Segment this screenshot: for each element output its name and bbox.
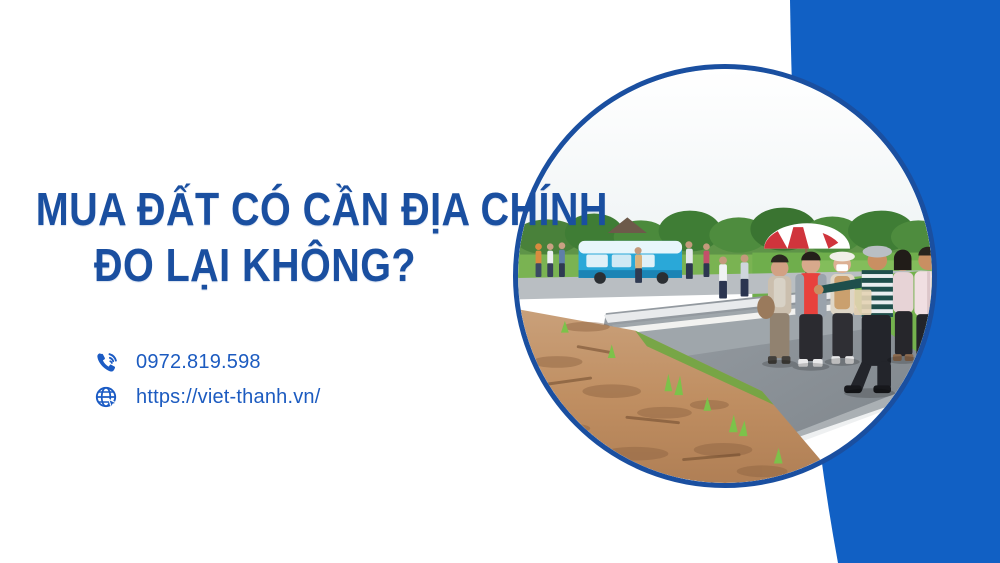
phone-call-icon: [92, 348, 122, 378]
photo-image: [518, 69, 932, 483]
globe-cursor-icon: [92, 383, 122, 413]
contact-block: 0972.819.598 https://viet-thanh.vn/: [92, 345, 422, 415]
contact-row-phone[interactable]: 0972.819.598: [92, 345, 422, 380]
banner-canvas: MUA ĐẤT CÓ CẦN ĐỊA CHÍNH ĐO LẠI KHÔNG? 0…: [0, 0, 1000, 563]
headline-line-1: MUA ĐẤT CÓ CẦN ĐỊA CHÍNH: [36, 181, 475, 237]
phone-number: 0972.819.598: [136, 351, 261, 374]
headline-line-2: ĐO LẠI KHÔNG?: [36, 237, 475, 293]
hero-photo: [513, 64, 937, 488]
contact-row-website[interactable]: https://viet-thanh.vn/: [92, 380, 422, 415]
page-title: MUA ĐẤT CÓ CẦN ĐỊA CHÍNH ĐO LẠI KHÔNG?: [36, 181, 475, 293]
person-5: [893, 250, 914, 361]
photo-ring: [513, 64, 937, 488]
text-column: MUA ĐẤT CÓ CẦN ĐỊA CHÍNH ĐO LẠI KHÔNG? 0…: [0, 0, 510, 563]
website-url: https://viet-thanh.vn/: [136, 386, 321, 409]
bus-shape: [579, 241, 683, 284]
